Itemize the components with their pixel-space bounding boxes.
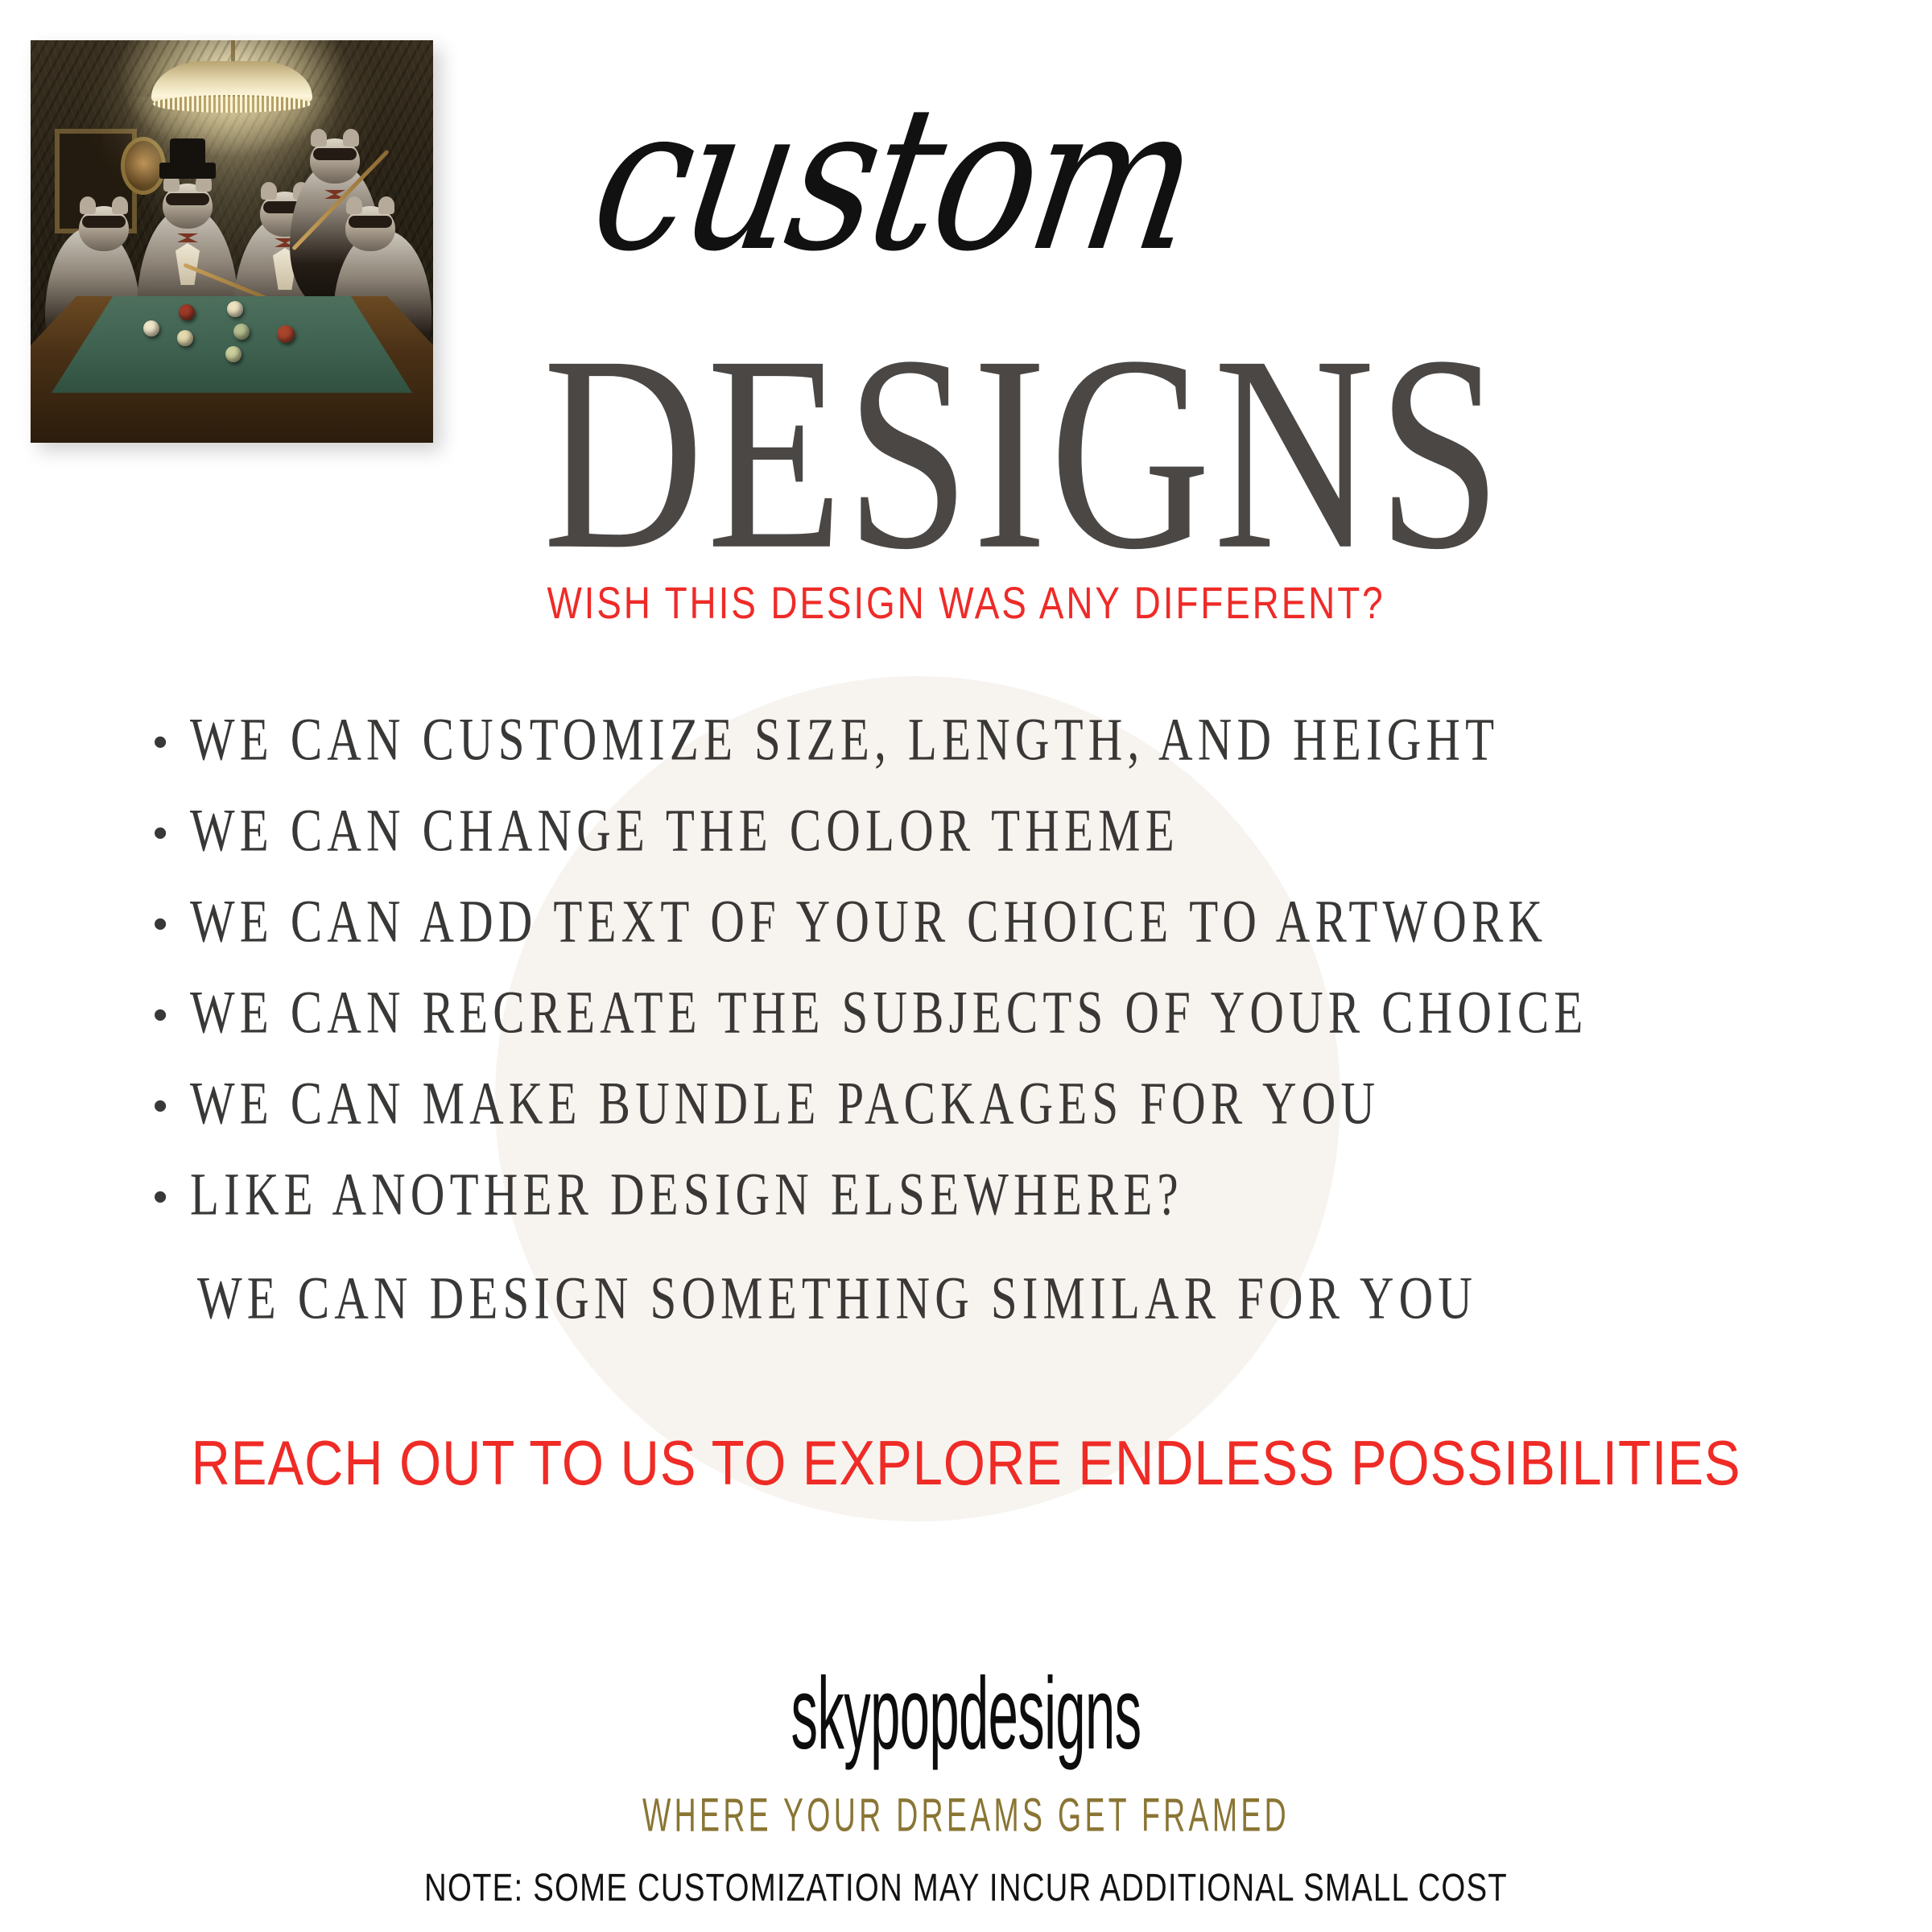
raccoon-head (310, 138, 360, 184)
subtitle-question: WISH THIS DESIGN WAS ANY DIFFERENT? (174, 576, 1758, 629)
list-item-continuation-label: WE CAN DESIGN SOMETHING SIMILAR FOR YOU (197, 1268, 1477, 1329)
list-item-label: WE CAN RECREATE THE SUBJECTS OF YOUR CHO… (190, 982, 1587, 1043)
list-item-label: WE CAN ADD TEXT OF YOUR CHOICE TO ARTWOR… (190, 891, 1547, 952)
bullet-dot-icon: • (153, 903, 190, 945)
custom-designs-poster: custom DESIGNS WISH THIS DESIGN WAS ANY … (0, 0, 1932, 1932)
top-hat-icon (159, 163, 216, 179)
customization-options-list: • WE CAN CUSTOMIZE SIZE, LENGTH, AND HEI… (153, 715, 1835, 1261)
raccoon-head (79, 206, 129, 251)
list-item: • WE CAN RECREATE THE SUBJECTS OF YOUR C… (153, 988, 1835, 1079)
brand-logo-text: skypopdesigns (367, 1653, 1565, 1773)
raccoon-head (163, 184, 213, 229)
bullet-dot-icon: • (153, 1176, 190, 1218)
bullet-dot-icon: • (153, 721, 190, 763)
list-item: • WE CAN CHANGE THE COLOR THEME (153, 806, 1835, 897)
bullet-dot-icon: • (153, 812, 190, 854)
raccoon-mask (166, 193, 209, 205)
list-item: • WE CAN ADD TEXT OF YOUR CHOICE TO ARTW… (153, 897, 1835, 988)
list-item-label: WE CAN CHANGE THE COLOR THEME (190, 800, 1179, 861)
brand-tagline: WHERE YOUR DREAMS GET FRAMED (270, 1789, 1662, 1843)
list-item: • WE CAN CUSTOMIZE SIZE, LENGTH, AND HEI… (153, 715, 1835, 806)
list-item-label: LIKE ANOTHER DESIGN ELSEWHERE? (190, 1164, 1183, 1225)
raccoon-mask (82, 216, 126, 228)
list-item: • WE CAN MAKE BUNDLE PACKAGES FOR YOU (153, 1079, 1835, 1170)
raccoon-mask (349, 216, 392, 228)
disclaimer-note: NOTE: SOME CUSTOMIZATION MAY INCUR ADDIT… (193, 1866, 1739, 1910)
list-item: • LIKE ANOTHER DESIGN ELSEWHERE? (153, 1170, 1835, 1261)
script-heading-custom: custom (435, 80, 1352, 279)
call-to-action-text: REACH OUT TO US TO EXPLORE ENDLESS POSSI… (135, 1426, 1797, 1500)
raccoon-mask (313, 148, 357, 160)
bullet-dot-icon: • (153, 1085, 190, 1127)
bullet-dot-icon: • (153, 994, 190, 1036)
list-item-label: WE CAN MAKE BUNDLE PACKAGES FOR YOU (190, 1073, 1380, 1134)
list-item-label: WE CAN CUSTOMIZE SIZE, LENGTH, AND HEIGH… (190, 709, 1499, 770)
page-title-designs: DESIGNS (155, 314, 1777, 593)
raccoon-head (345, 206, 395, 251)
